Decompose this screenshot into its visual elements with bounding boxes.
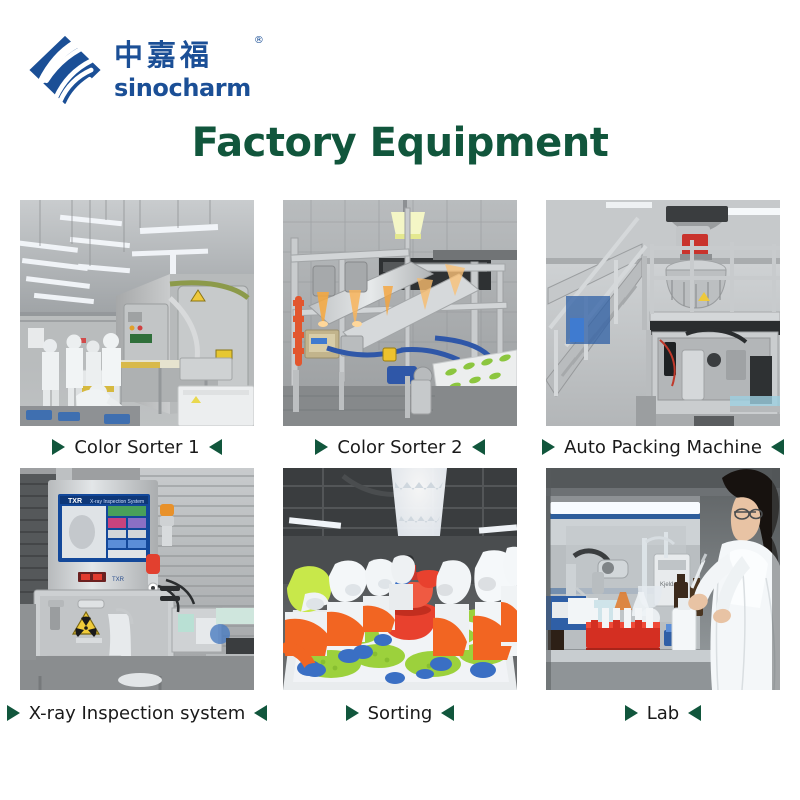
gallery-caption-label: Sorting [368,703,433,724]
svg-text:X-ray Inspection System: X-ray Inspection System [90,499,144,505]
gallery-item: Auto Packing Machine [546,200,780,468]
brand-text: 中嘉福® sinocharm [114,41,251,100]
triangle-left-icon [441,705,454,721]
gallery-caption: Lab [546,690,780,736]
triangle-left-icon [771,439,784,455]
gallery-item: Kjeldahl [546,468,780,736]
gallery-caption: Auto Packing Machine [546,426,780,468]
registered-trademark-icon: ® [254,36,264,46]
triangle-right-icon [52,439,65,455]
triangle-right-icon [346,705,359,721]
triangle-left-icon [688,705,701,721]
gallery-caption: X-ray Inspection system [20,690,254,736]
factory-equipment-page: 中嘉福® sinocharm Factory Equipment [0,0,800,800]
gallery-caption-label: Lab [647,703,679,724]
gallery-item: TXR X-ray Inspection System [20,468,254,736]
gallery-caption-label: Color Sorter 2 [337,437,462,458]
gallery-caption: Color Sorter 1 [20,426,254,468]
svg-text:TXR: TXR [68,498,82,505]
gallery-caption-label: Color Sorter 1 [74,437,199,458]
triangle-right-icon [7,705,20,721]
laboratory-photo: Kjeldahl [546,468,780,690]
gallery-caption-label: Auto Packing Machine [564,437,762,458]
color-sorter-line-photo [20,200,254,426]
triangle-left-icon [209,439,222,455]
gallery-caption: Color Sorter 2 [283,426,517,468]
triangle-left-icon [254,705,267,721]
triangle-right-icon [542,439,555,455]
gallery-item: Color Sorter 1 [20,200,254,468]
brand-logo: 中嘉福® sinocharm [26,33,251,107]
gallery-caption: Sorting [283,690,517,736]
brand-english-name: sinocharm [114,76,251,100]
gallery-item: Sorting [283,468,517,736]
svg-text:TXR: TXR [112,577,125,583]
brand-chinese-characters: 中嘉福 [114,38,213,72]
gallery-item: Color Sorter 2 [283,200,517,468]
gallery-caption-label: X-ray Inspection system [29,703,246,724]
auto-packing-machine-photo [546,200,780,426]
brand-chinese-name: 中嘉福® [114,41,251,70]
sinocharm-diamond-logo-icon [26,33,104,107]
page-title: Factory Equipment [0,120,800,166]
manual-sorting-line-photo [283,468,517,690]
triangle-right-icon [315,439,328,455]
color-sorter-conveyor-photo [283,200,517,426]
triangle-right-icon [625,705,638,721]
xray-inspection-system-photo: TXR X-ray Inspection System [20,468,254,690]
equipment-gallery: Color Sorter 1 [20,200,780,736]
triangle-left-icon [472,439,485,455]
